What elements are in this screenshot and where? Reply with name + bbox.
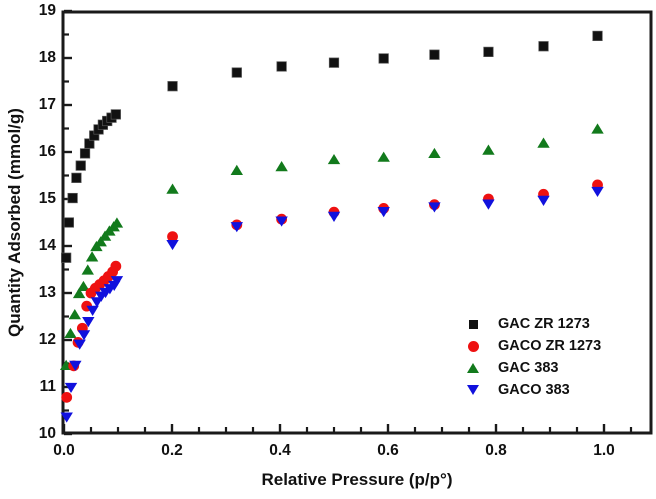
data-point (591, 187, 603, 197)
plot-area (0, 0, 656, 499)
data-point (80, 149, 90, 159)
data-point (76, 161, 86, 171)
data-point (231, 165, 243, 175)
legend-item[interactable]: GAC ZR 1273 (462, 313, 642, 335)
data-point (275, 161, 287, 171)
legend-item-label: GACO ZR 1273 (498, 338, 601, 354)
data-point (64, 218, 74, 228)
data-point (232, 68, 242, 78)
data-point (328, 154, 340, 164)
legend-item-label: GAC ZR 1273 (498, 316, 590, 332)
legend-item[interactable]: GACO ZR 1273 (462, 335, 642, 357)
data-point (328, 212, 340, 222)
data-point (61, 392, 72, 403)
legend-item-label: GAC 383 (498, 360, 558, 376)
data-point (166, 184, 178, 194)
data-point (593, 31, 603, 41)
data-point (72, 173, 82, 183)
triangle-down-marker-icon (462, 379, 484, 401)
data-point (277, 62, 287, 72)
data-point (537, 196, 549, 206)
data-point (168, 81, 178, 91)
adsorption-isotherm-figure: Quantity Adsorbed (mmol/g) Relative Pres… (0, 0, 656, 499)
data-point (428, 148, 440, 158)
circle-marker-icon (462, 335, 484, 357)
data-point (482, 200, 494, 210)
data-point (379, 54, 389, 64)
data-point (69, 309, 81, 319)
data-point (82, 264, 94, 274)
data-point (111, 110, 121, 120)
data-point (482, 145, 494, 155)
data-point (484, 47, 494, 57)
legend-item[interactable]: GAC 383 (462, 357, 642, 379)
data-point (430, 50, 440, 60)
data-point (166, 240, 178, 250)
data-point (61, 253, 71, 263)
series-gac-zr-1273 (61, 31, 602, 262)
data-point (86, 251, 98, 261)
data-point (591, 123, 603, 133)
square-marker-icon (462, 313, 484, 335)
legend-item[interactable]: GACO 383 (462, 379, 642, 401)
triangle-up-marker-icon (462, 357, 484, 379)
legend: GAC ZR 1273GACO ZR 1273GAC 383GACO 383 (462, 313, 642, 401)
legend-item-label: GACO 383 (498, 382, 570, 398)
data-point (329, 58, 339, 67)
data-point (64, 328, 76, 338)
data-point (68, 193, 78, 203)
data-point (377, 207, 389, 217)
data-point (539, 42, 549, 52)
data-point (377, 152, 389, 162)
data-point (111, 217, 123, 227)
data-point (537, 138, 549, 148)
data-point (110, 261, 121, 272)
